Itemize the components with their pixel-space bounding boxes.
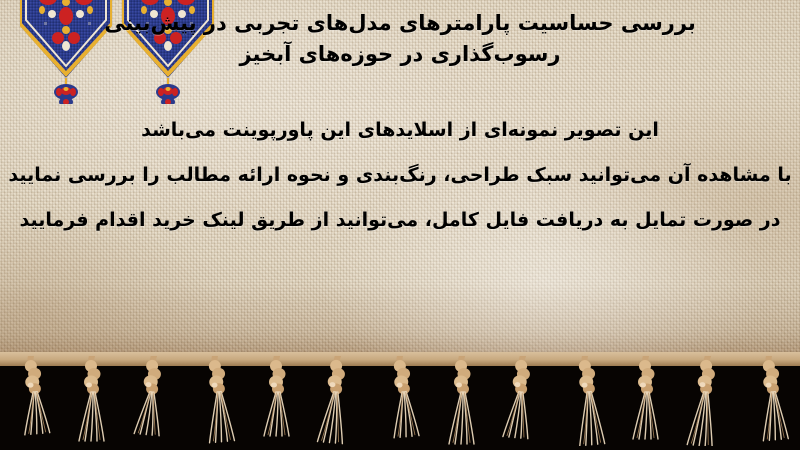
tassel	[440, 356, 484, 450]
slide-title-line-1: بررسی حساسیت پارامترهای مدل‌های تجربی در…	[0, 8, 800, 39]
tassel	[378, 356, 422, 450]
tassel	[686, 356, 730, 450]
slide-text-content: بررسی حساسیت پارامترهای مدل‌های تجربی در…	[0, 0, 800, 362]
tassel	[255, 356, 299, 450]
slide-title-line-2: رسوب‌گذاری در حوزه‌های آبخیز	[0, 39, 800, 70]
slide-body-line-1: این تصویر نمونه‌ای از اسلایدهای این پاور…	[0, 108, 800, 153]
tassel	[501, 356, 545, 450]
tassel	[624, 356, 668, 450]
tassel	[563, 356, 607, 450]
carpet-fringe	[0, 352, 800, 450]
slide-body-line-2: با مشاهده آن می‌توانید سبک طراحی، رنگ‌بن…	[0, 153, 800, 198]
slide-body-line-3: در صورت تمایل به دریافت فایل کامل، می‌تو…	[0, 198, 800, 243]
tassel	[193, 356, 237, 450]
tassel	[132, 356, 176, 450]
tassel	[70, 356, 114, 450]
tassel	[9, 356, 53, 450]
slide-canvas: بررسی حساسیت پارامترهای مدل‌های تجربی در…	[0, 0, 800, 450]
tassel	[747, 356, 791, 450]
slide-body: این تصویر نمونه‌ای از اسلایدهای این پاور…	[0, 108, 800, 243]
slide-title: بررسی حساسیت پارامترهای مدل‌های تجربی در…	[0, 8, 800, 70]
tassel	[316, 356, 360, 450]
